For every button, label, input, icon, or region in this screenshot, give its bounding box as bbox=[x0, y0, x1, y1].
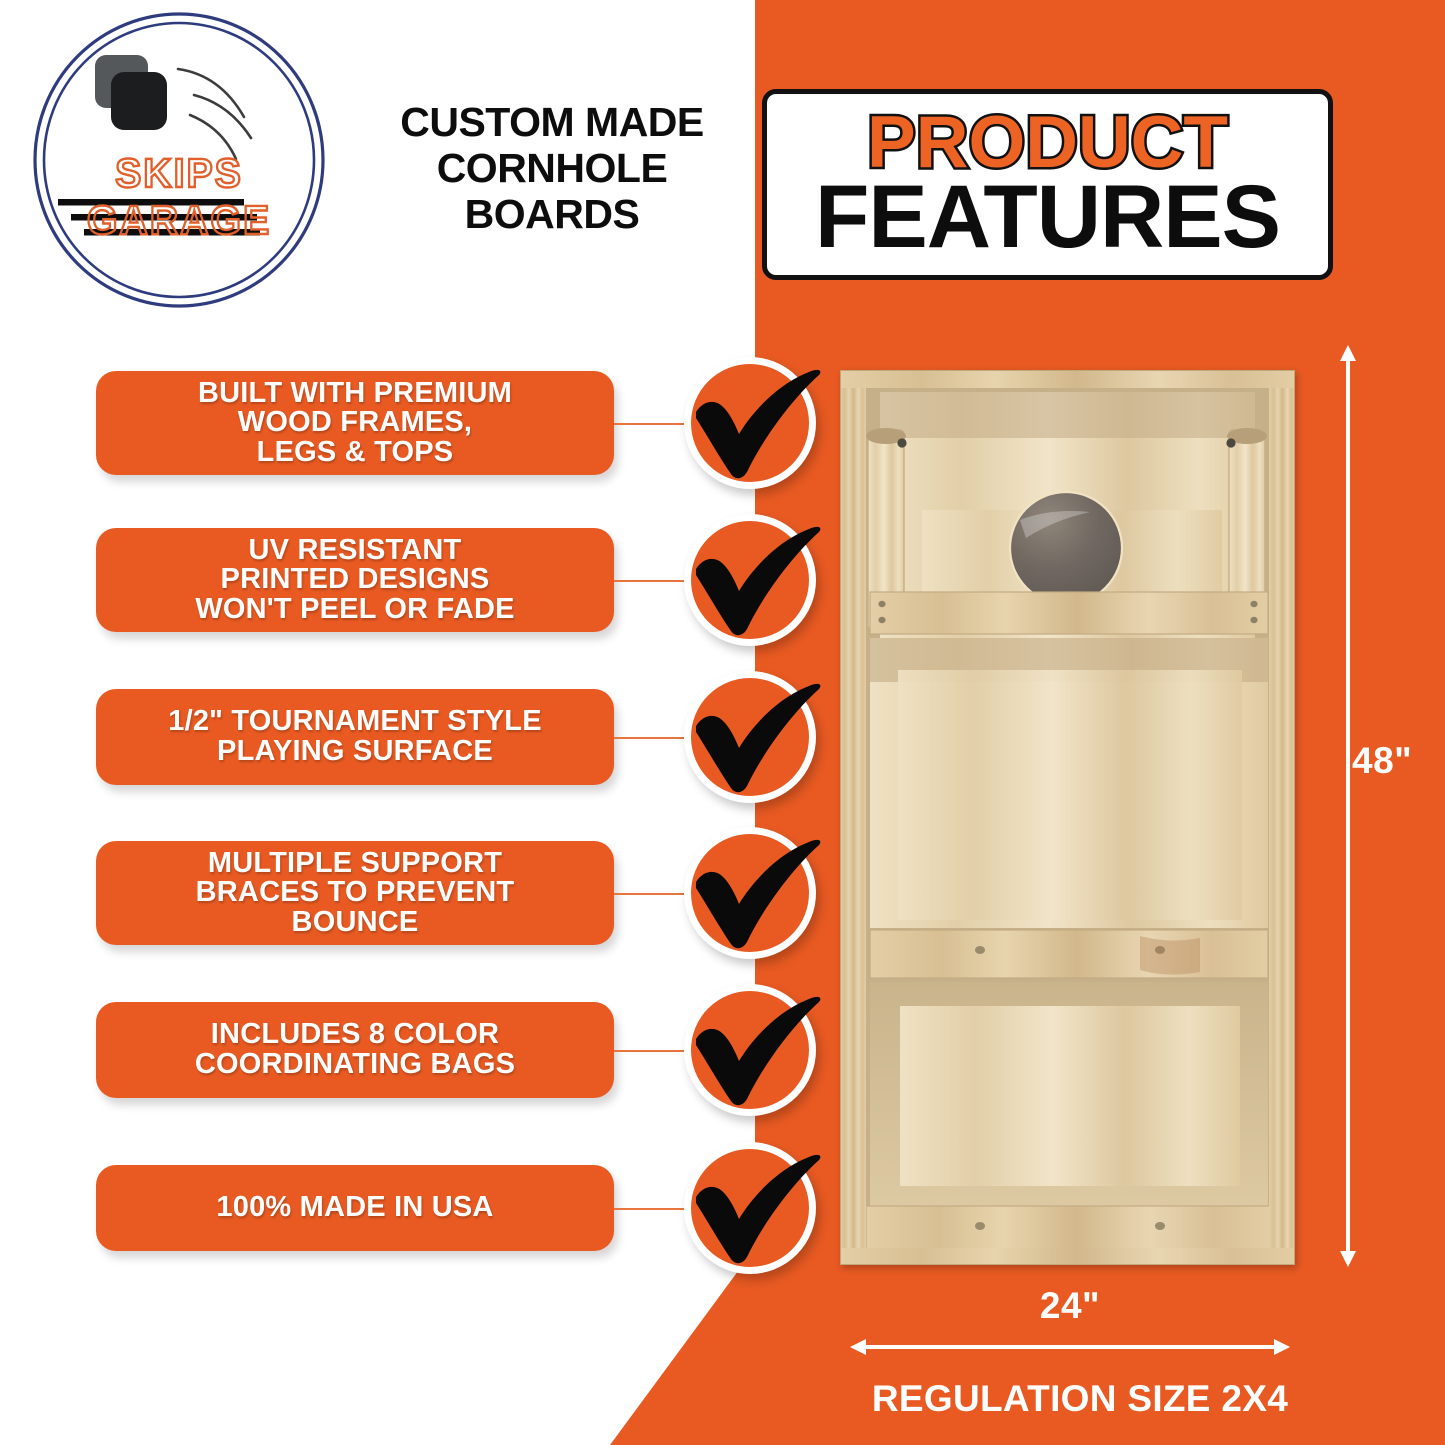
feature-pill-text: INCLUDES 8 COLORCOORDINATING BAGS bbox=[195, 1020, 515, 1079]
feature-connector-line bbox=[614, 737, 686, 739]
height-dimension-label: 48" bbox=[1352, 740, 1412, 782]
regulation-size-note: REGULATION SIZE 2X4 bbox=[820, 1378, 1340, 1420]
feature-check-circle bbox=[684, 827, 816, 959]
width-dimension-label: 24" bbox=[850, 1285, 1290, 1327]
brand-logo-text: SKIPS GARAGE bbox=[21, 150, 338, 244]
feature-check-circle bbox=[684, 1142, 816, 1274]
page-title-line-2: CORNHOLE bbox=[352, 146, 752, 192]
feature-pill-text: UV RESISTANTPRINTED DESIGNSWON'T PEEL OR… bbox=[195, 536, 514, 625]
feature-check-circle bbox=[684, 357, 816, 489]
page-title: CUSTOM MADE CORNHOLE BOARDS bbox=[352, 100, 752, 238]
feature-check-circle bbox=[684, 514, 816, 646]
infographic-root: SKIPS GARAGE CUSTOM MADE CORNHOLE BOARDS… bbox=[0, 0, 1445, 1445]
feature-connector-line bbox=[614, 893, 686, 895]
page-title-line-3: BOARDS bbox=[352, 192, 752, 238]
badge-word-features: FEATURES bbox=[815, 174, 1280, 259]
brand-logo[interactable]: SKIPS GARAGE bbox=[14, 10, 344, 310]
page-title-line-1: CUSTOM MADE bbox=[352, 100, 752, 146]
height-dimension-arrow bbox=[1337, 345, 1359, 1267]
product-photo bbox=[840, 370, 1295, 1265]
feature-pill[interactable]: 100% MADE IN USA bbox=[96, 1165, 614, 1251]
feature-connector-line bbox=[614, 1050, 686, 1052]
feature-connector-line bbox=[614, 1208, 686, 1210]
feature-connector-line bbox=[614, 423, 686, 425]
feature-pill-text: 100% MADE IN USA bbox=[216, 1193, 493, 1223]
feature-check-circle bbox=[684, 984, 816, 1116]
feature-pill-text: BUILT WITH PREMIUMWOOD FRAMES,LEGS & TOP… bbox=[198, 379, 512, 468]
feature-pill-text: 1/2" TOURNAMENT STYLEPLAYING SURFACE bbox=[168, 707, 542, 766]
feature-pill-text: MULTIPLE SUPPORTBRACES TO PREVENTBOUNCE bbox=[196, 849, 515, 938]
feature-connector-line bbox=[614, 580, 686, 582]
feature-pill[interactable]: UV RESISTANTPRINTED DESIGNSWON'T PEEL OR… bbox=[96, 528, 614, 632]
feature-check-circle bbox=[684, 671, 816, 803]
width-dimension-arrow bbox=[850, 1336, 1290, 1358]
feature-pill[interactable]: 1/2" TOURNAMENT STYLEPLAYING SURFACE bbox=[96, 689, 614, 785]
cornhole-board-underside-illustration bbox=[840, 370, 1295, 1265]
feature-pill[interactable]: MULTIPLE SUPPORTBRACES TO PREVENTBOUNCE bbox=[96, 841, 614, 945]
product-features-badge: PRODUCT FEATURES bbox=[762, 89, 1333, 280]
feature-pill[interactable]: INCLUDES 8 COLORCOORDINATING BAGS bbox=[96, 1002, 614, 1098]
feature-pill[interactable]: BUILT WITH PREMIUMWOOD FRAMES,LEGS & TOP… bbox=[96, 371, 614, 475]
